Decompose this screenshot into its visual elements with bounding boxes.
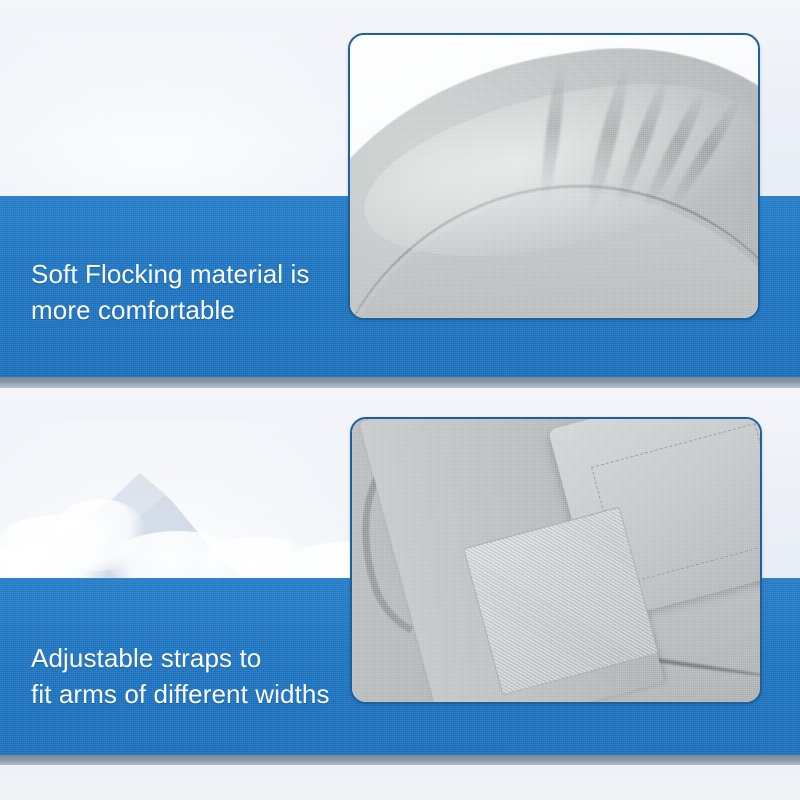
product-feature-infographic: Soft Flocking material is more comfortab… (0, 0, 800, 800)
feature-panel-soft-flocking: Soft Flocking material is more comfortab… (0, 0, 800, 388)
photo-soft-flocking (350, 35, 758, 318)
feature-caption-adjustable-straps: Adjustable straps to fit arms of differe… (31, 640, 330, 712)
feature-panel-adjustable-straps: Adjustable straps to fit arms of differe… (0, 388, 800, 800)
band-shadow-1 (0, 377, 800, 388)
photo-adjustable-straps (352, 419, 760, 702)
page-bottom-strip (0, 765, 800, 800)
feature-photo-card-adjustable-straps (350, 417, 762, 704)
feature-caption-soft-flocking: Soft Flocking material is more comfortab… (31, 256, 309, 328)
feature-photo-card-soft-flocking (348, 33, 760, 320)
